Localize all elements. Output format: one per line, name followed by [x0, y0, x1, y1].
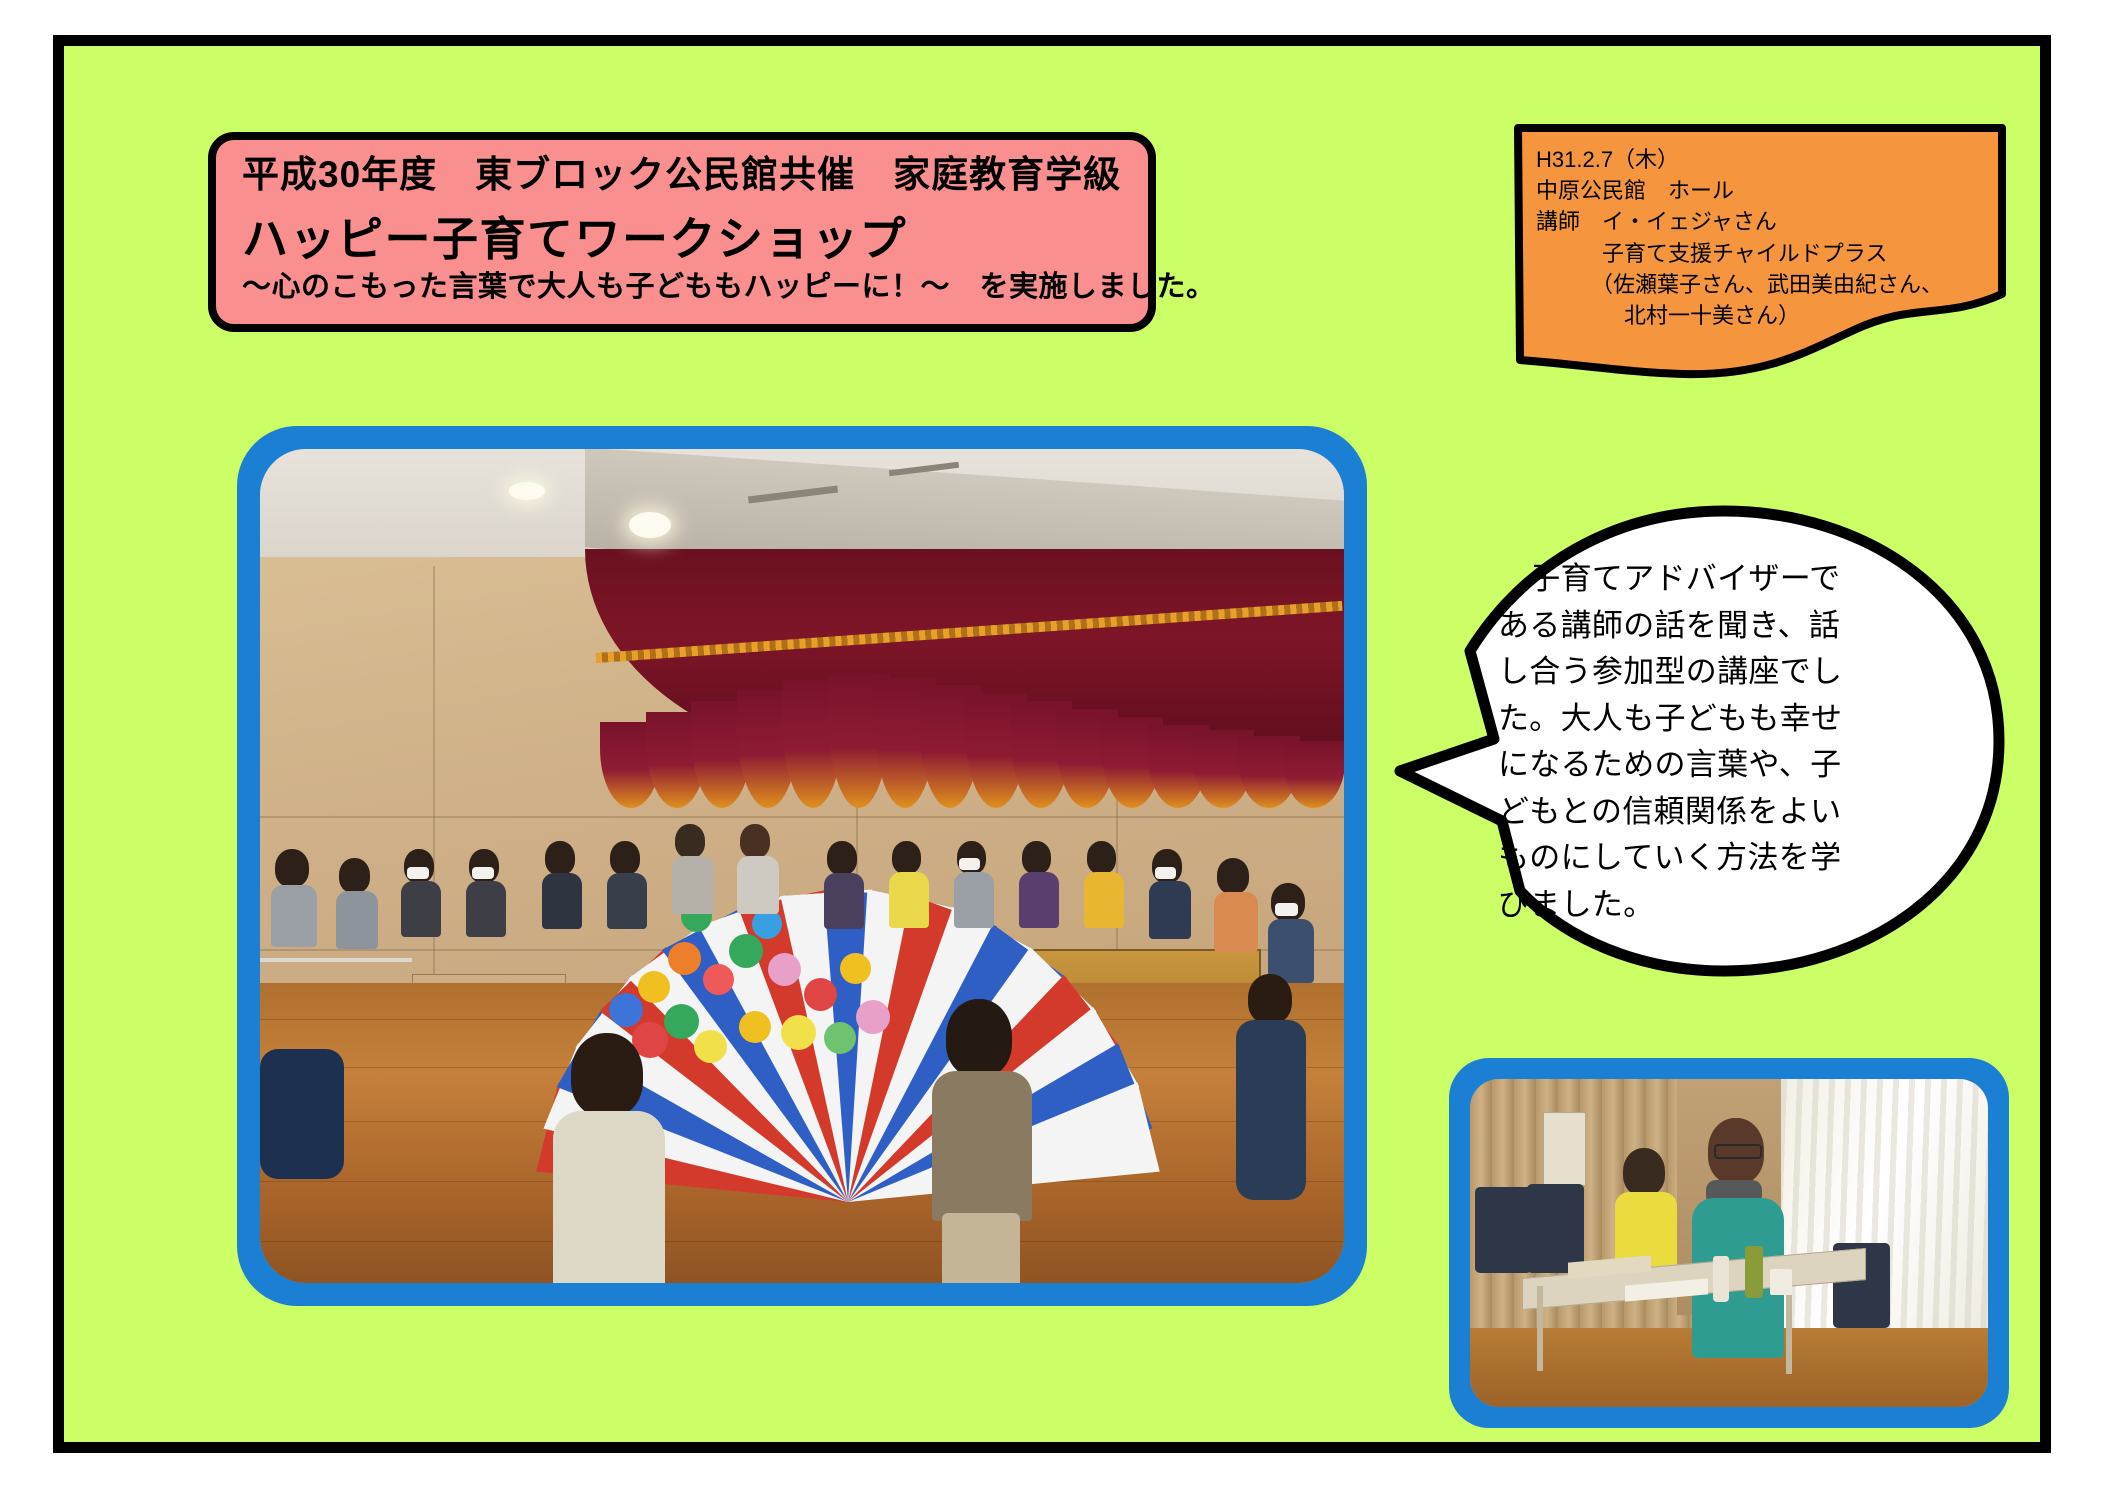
- wall-seam: [260, 816, 1344, 818]
- glasses-icon: [1714, 1144, 1762, 1159]
- plastic-bottle: [1745, 1246, 1763, 1298]
- cup: [1713, 1256, 1729, 1302]
- table-leg: [1537, 1286, 1543, 1371]
- main-photo-image: [254, 443, 1350, 1289]
- speech-bubble-text: 子育てアドバイザーで ある講師の話を聞き、話 し合う参加型の講座でし た。大人も…: [1498, 556, 1918, 928]
- secondary-photo-image: [1465, 1074, 1993, 1412]
- chair: [1475, 1187, 1532, 1272]
- page-title: ハッピー子育てワークショップ: [242, 211, 1126, 269]
- wall-notice: [1543, 1112, 1586, 1186]
- event-info-text: H31.2.7（木） 中原公民館 ホール 講師 イ・イェジャさん 子育て支援チャ…: [1536, 144, 2006, 331]
- chair: [1527, 1184, 1584, 1273]
- title-box: 平成30年度 東ブロック公民館共催 家庭教育学級 ハッピー子育てワークショップ …: [208, 132, 1156, 332]
- curtain-scallops: [585, 674, 1344, 807]
- event-info-callout: H31.2.7（木） 中原公民館 ホール 講師 イ・イェジャさん 子育て支援チャ…: [1514, 124, 2006, 386]
- table-leg: [1786, 1295, 1792, 1374]
- ceiling-light: [629, 512, 671, 538]
- main-photo-frame: [237, 426, 1367, 1306]
- poster-frame: 平成30年度 東ブロック公民館共催 家庭教育学級 ハッピー子育てワークショップ …: [53, 35, 2051, 1453]
- title-tagline: 〜心のこもった言葉で大人も子どももハッピーに！〜 を実施しました。: [242, 272, 1126, 304]
- ball-pile: [596, 916, 921, 1099]
- speech-bubble: 子育てアドバイザーで ある講師の話を聞き、話 し合う参加型の講座でし た。大人も…: [1394, 501, 2009, 981]
- title-subheading: 平成30年度 東ブロック公民館共催 家庭教育学級: [242, 154, 1126, 197]
- paper-cup: [1770, 1269, 1792, 1295]
- secondary-photo-frame: [1449, 1058, 2009, 1428]
